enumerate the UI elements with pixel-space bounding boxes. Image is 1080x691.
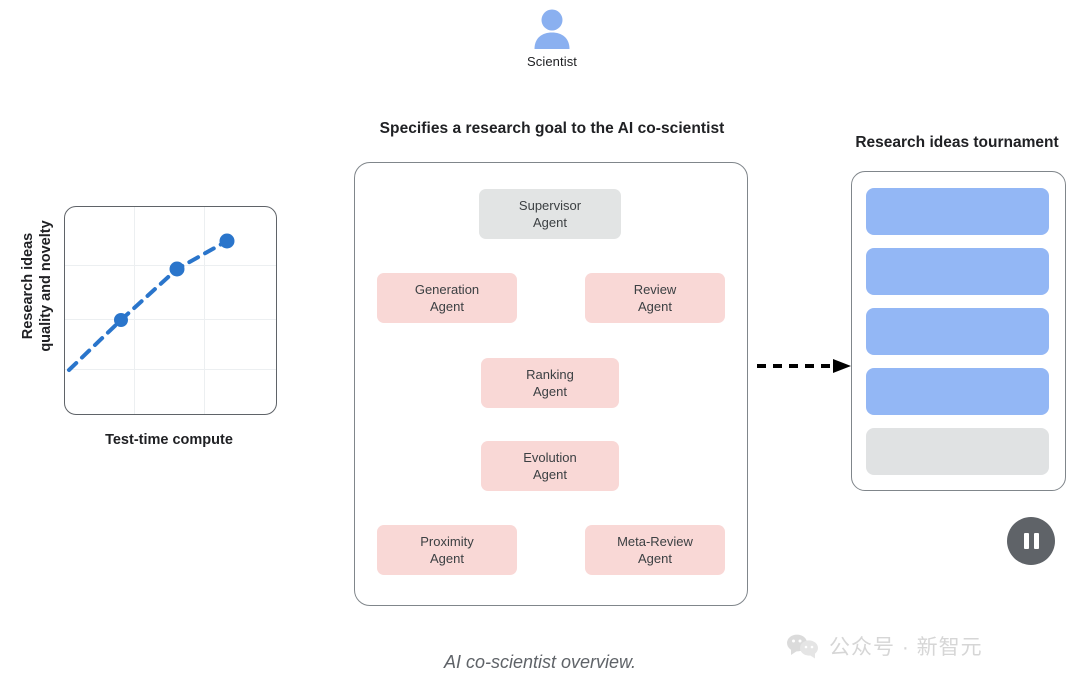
- scientist-label: Scientist: [500, 54, 604, 69]
- chart-y-axis-label-line1: Research ideas: [19, 191, 37, 381]
- tournament-idea-bar[interactable]: [866, 188, 1049, 235]
- pause-icon: [1034, 533, 1039, 549]
- wechat-icon: [786, 633, 820, 659]
- scientist-actor: Scientist: [500, 6, 604, 69]
- tournament-idea-bar[interactable]: [866, 368, 1049, 415]
- agent-box-review[interactable]: Review Agent: [585, 273, 725, 323]
- watermark: 公众号 · 新智元: [786, 631, 983, 661]
- agent-box-meta-review[interactable]: Meta-Review Agent: [585, 525, 725, 575]
- tournament-idea-bar[interactable]: [866, 308, 1049, 355]
- chart-data-point: [220, 234, 235, 249]
- agent-box-ranking[interactable]: Ranking Agent: [481, 358, 619, 408]
- chart-series: [65, 207, 276, 414]
- tournament-panel: [851, 171, 1066, 491]
- test-time-compute-chart: Research ideas quality and novelty Test-…: [4, 200, 294, 465]
- chart-y-axis-label-line2: quality and novelty: [37, 191, 55, 381]
- chart-plot-area: [64, 206, 277, 415]
- agent-box-evolution[interactable]: Evolution Agent: [481, 441, 619, 491]
- agent-box-generation[interactable]: Generation Agent: [377, 273, 517, 323]
- tournament-idea-bar[interactable]: [866, 248, 1049, 295]
- person-icon: [530, 6, 574, 50]
- chart-data-point: [114, 313, 128, 327]
- chart-data-point: [170, 262, 185, 277]
- pause-button[interactable]: [1007, 517, 1055, 565]
- research-goal-heading: Specifies a research goal to the AI co-s…: [352, 120, 752, 138]
- chart-x-axis-label: Test-time compute: [34, 432, 304, 448]
- pause-icon: [1024, 533, 1029, 549]
- tournament-heading: Research ideas tournament: [838, 134, 1076, 152]
- chart-y-axis-label: Research ideas quality and novelty: [19, 191, 55, 381]
- tournament-idea-bar[interactable]: [866, 428, 1049, 475]
- ai-co-scientist-container: Supervisor Agent Generation Agent Review…: [354, 162, 748, 606]
- agent-box-proximity[interactable]: Proximity Agent: [377, 525, 517, 575]
- chart-trend-line: [69, 241, 227, 370]
- watermark-text: 公众号 · 新智元: [829, 631, 983, 661]
- figure-caption: AI co-scientist overview.: [290, 652, 790, 673]
- agent-box-supervisor[interactable]: Supervisor Agent: [479, 189, 621, 239]
- dashed-arrow-right-icon: [757, 358, 853, 374]
